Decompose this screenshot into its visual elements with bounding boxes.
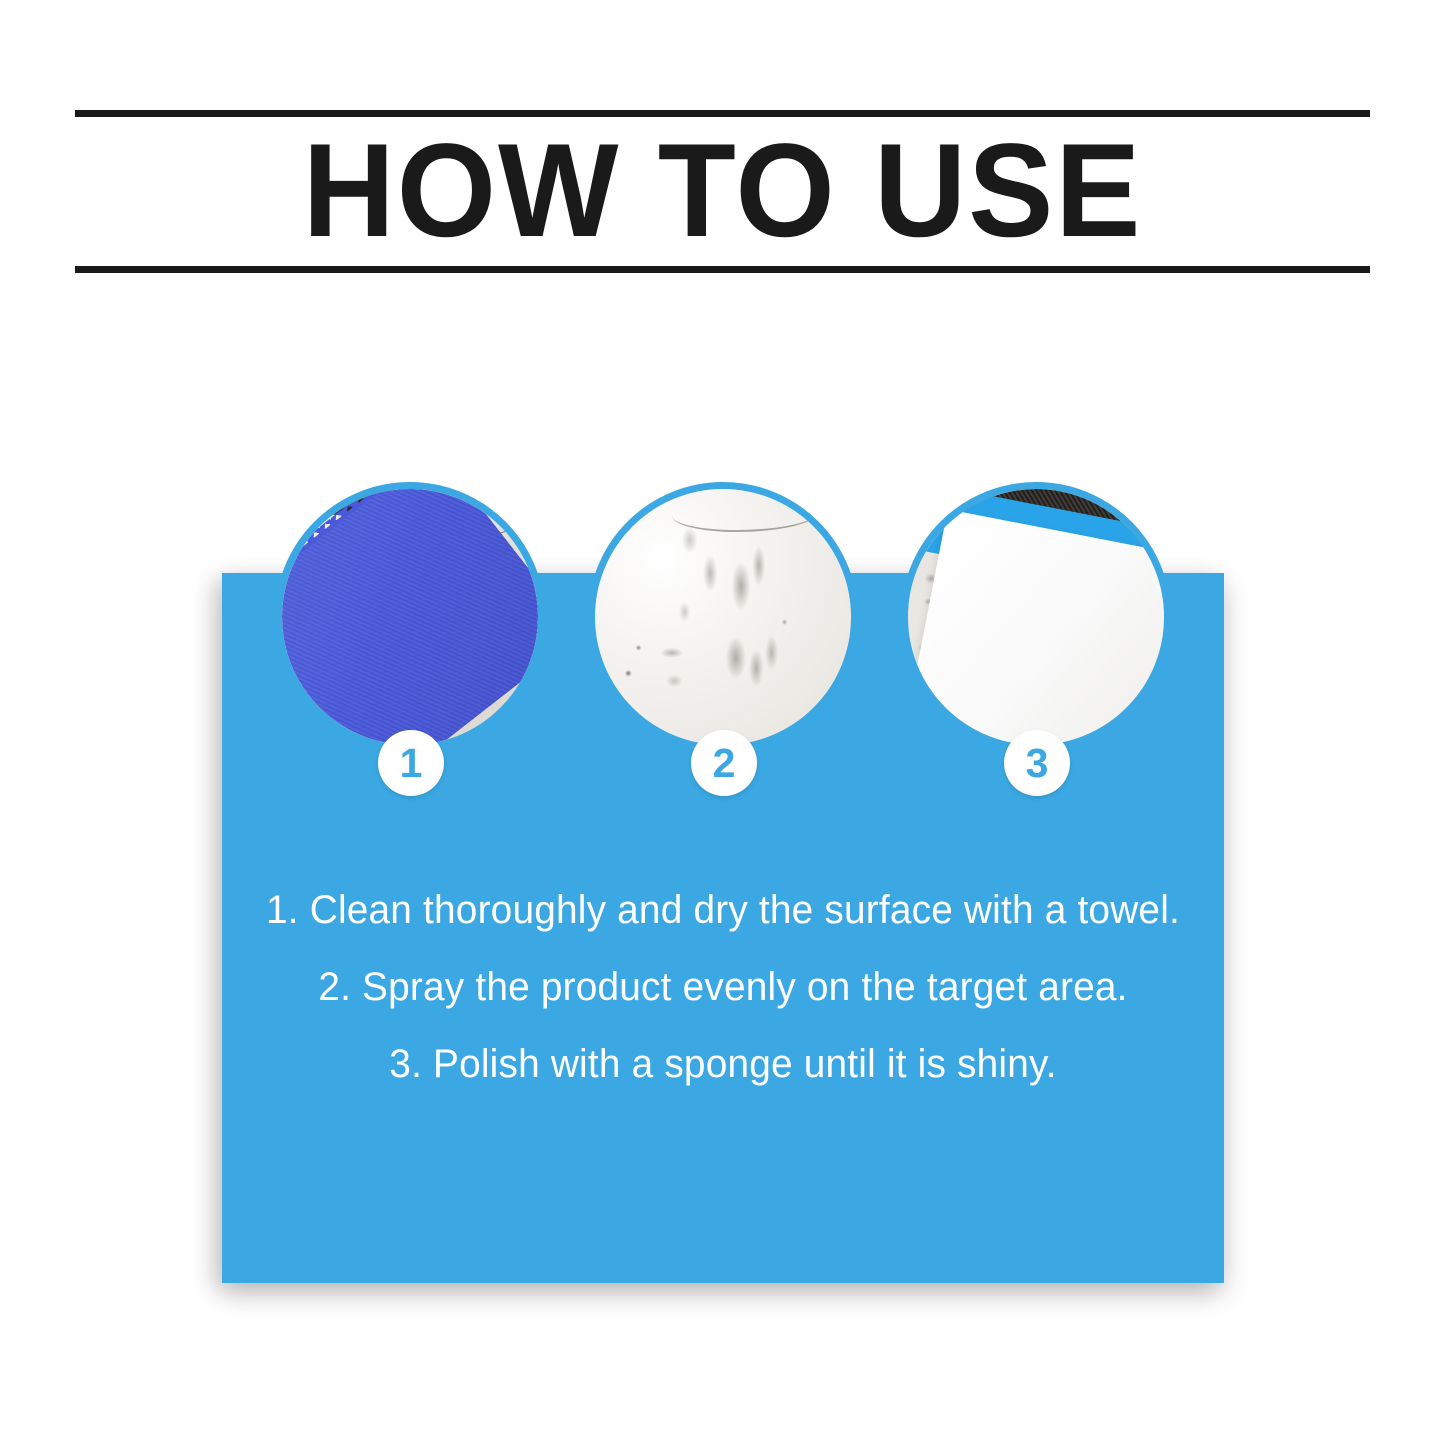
step-2-number-badge: 2 bbox=[691, 730, 757, 796]
step-3-number-badge: 3 bbox=[1004, 730, 1070, 796]
step-2[interactable] bbox=[588, 482, 858, 752]
step-1-number-badge: 1 bbox=[378, 730, 444, 796]
step-3[interactable] bbox=[901, 482, 1171, 752]
instruction-list: 1. Clean thoroughly and dry the surface … bbox=[222, 890, 1224, 1121]
grimy-streaked-white-surface-photo bbox=[595, 489, 851, 745]
instruction-line-3: 3. Polish with a sponge until it is shin… bbox=[237, 1044, 1209, 1084]
grime-streaks bbox=[595, 489, 851, 745]
instruction-line-1: 1. Clean thoroughly and dry the surface … bbox=[237, 890, 1209, 930]
step-1[interactable] bbox=[275, 482, 545, 752]
cleaned-white-panel-with-sponge-photo bbox=[908, 489, 1164, 745]
cleaned-white-surface bbox=[908, 510, 1164, 745]
infographic-canvas: HOW TO USE bbox=[0, 0, 1445, 1445]
title-rule-bottom bbox=[75, 266, 1370, 273]
page-title: HOW TO USE bbox=[101, 116, 1344, 266]
step-1-photo-circle bbox=[275, 482, 545, 752]
step-2-photo-circle bbox=[588, 482, 858, 752]
step-3-photo-circle bbox=[901, 482, 1171, 752]
dirty-surface-with-blue-microfiber-cloth-photo bbox=[282, 489, 538, 745]
instruction-line-2: 2. Spray the product evenly on the targe… bbox=[237, 967, 1209, 1007]
